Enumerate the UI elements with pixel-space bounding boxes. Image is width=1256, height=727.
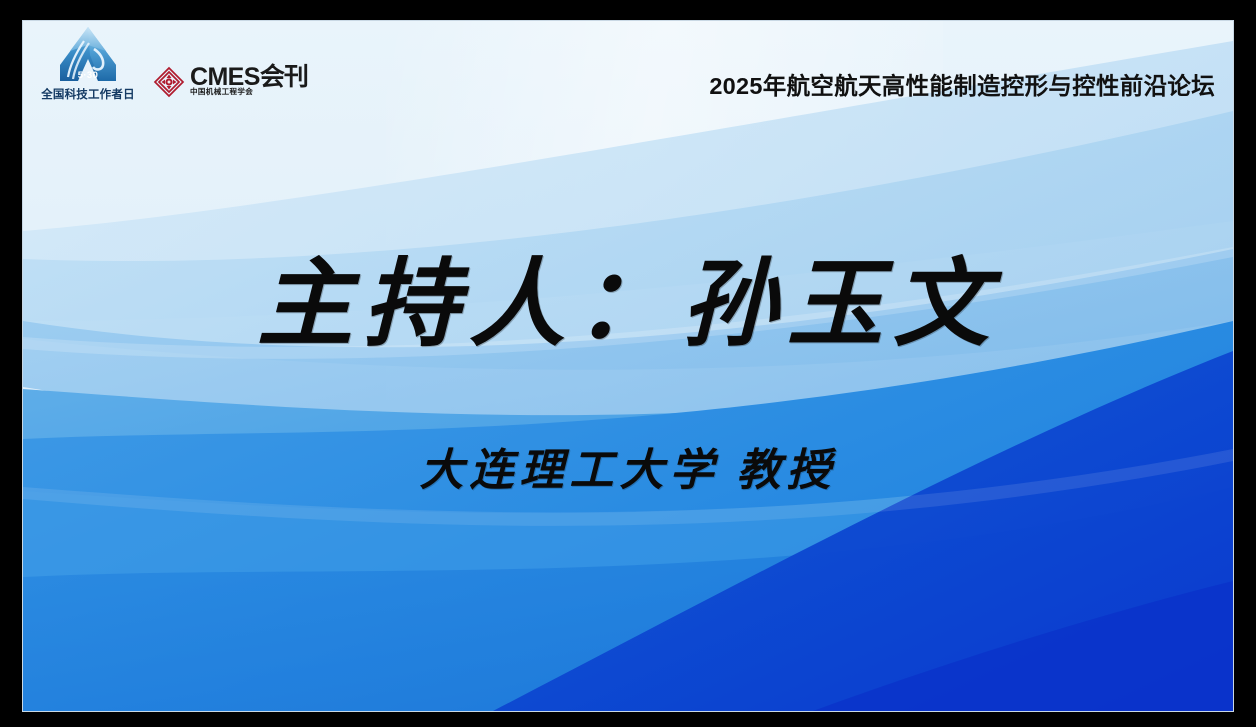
cmes-journal-logo: CMES会刊 中国机械工程学会 xyxy=(153,65,308,98)
emblem-caption: 全国科技工作者日 xyxy=(33,88,143,102)
national-sci-tech-workers-day-logo: 5·30 全国科技工作者日 xyxy=(33,25,143,102)
forum-title: 2025年航空航天高性能制造控形与控性前沿论坛 xyxy=(709,67,1215,101)
host-title: 主持人：孙玉文 xyxy=(23,249,1233,361)
host-affiliation: 大连理工大学 教授 xyxy=(23,441,1233,501)
cmes-gear-diamond-icon xyxy=(153,66,185,98)
wave-decoration xyxy=(23,21,1233,711)
presentation-slide: 5·30 全国科技工作者日 xyxy=(23,21,1233,711)
sci-tech-workers-day-emblem-icon: 5·30 xyxy=(54,25,122,87)
screenshot-stage: 5·30 全国科技工作者日 xyxy=(0,0,1256,727)
cmes-wordmark-text: CMES会刊 xyxy=(190,65,308,89)
cmes-wordmark: CMES会刊 中国机械工程学会 xyxy=(190,65,308,98)
svg-text:5·30: 5·30 xyxy=(78,70,99,81)
cmes-subtext: 中国机械工程学会 xyxy=(190,88,298,96)
cmes-cn-text: 会刊 xyxy=(260,63,308,91)
slide-header: 5·30 全国科技工作者日 xyxy=(23,21,1233,113)
